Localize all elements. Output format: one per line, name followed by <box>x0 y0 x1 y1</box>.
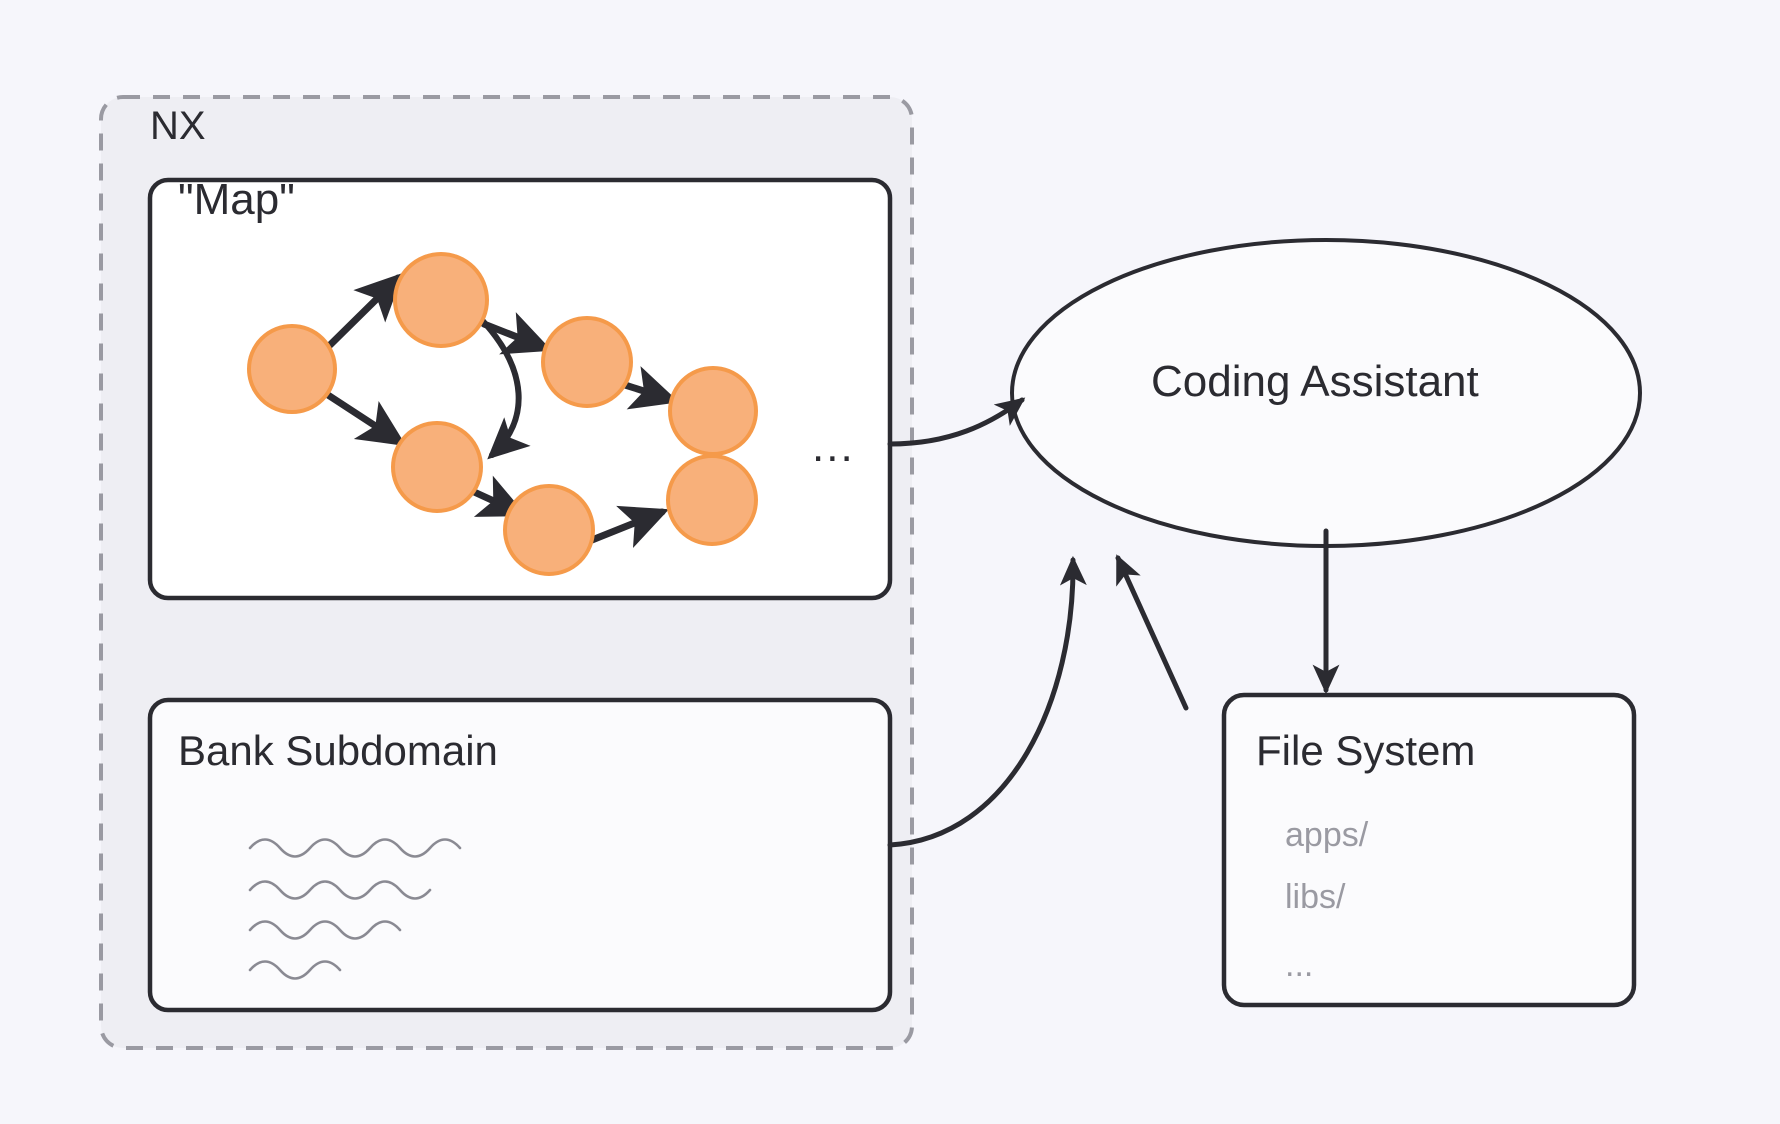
file-system-item-libs: libs/ <box>1285 880 1345 914</box>
bank-subdomain-title: Bank Subdomain <box>178 730 498 772</box>
graph-node-1[interactable] <box>249 326 335 412</box>
shapes-layer <box>0 0 1780 1124</box>
graph-node-3[interactable] <box>393 423 481 511</box>
coding-assistant-label: Coding Assistant <box>1151 360 1479 404</box>
connection-bank-to-coding-assistant <box>890 560 1073 845</box>
nx-container-label: NX <box>150 106 206 146</box>
graph-node-6[interactable] <box>668 456 756 544</box>
graph-node-2[interactable] <box>395 254 487 346</box>
graph-node-5[interactable] <box>505 486 593 574</box>
graph-node-4[interactable] <box>543 318 631 406</box>
graph-node-7[interactable] <box>670 368 756 454</box>
connection-file-system-to-coding-assistant <box>1118 558 1186 708</box>
file-system-title: File System <box>1256 730 1475 772</box>
map-panel-title: "Map" <box>178 178 295 222</box>
map-graph-ellipsis: ... <box>812 425 855 469</box>
diagram-canvas: NX "Map" ... Bank Subdomain Coding Assis… <box>0 0 1780 1124</box>
file-system-item-ellipsis: ... <box>1285 948 1313 982</box>
file-system-item-apps: apps/ <box>1285 818 1368 852</box>
